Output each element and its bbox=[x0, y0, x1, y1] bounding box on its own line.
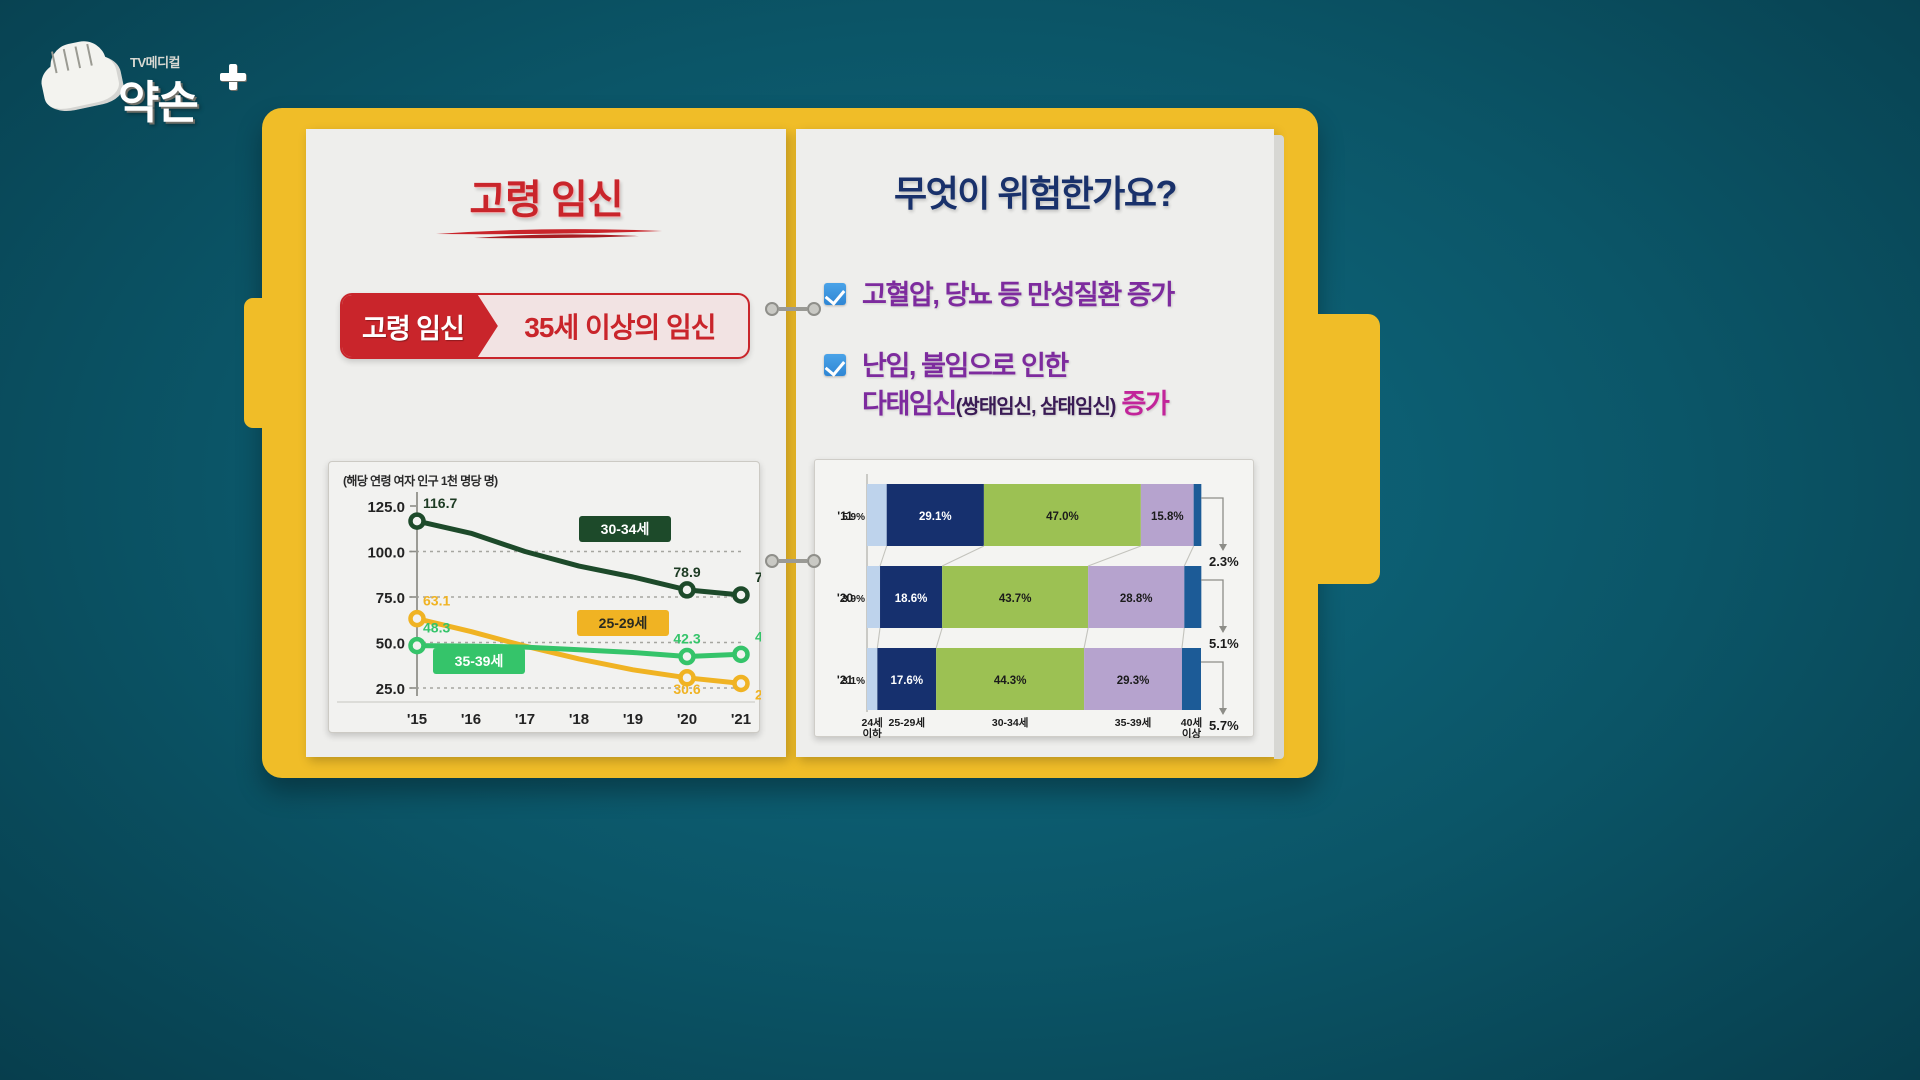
svg-text:'18: '18 bbox=[569, 711, 589, 728]
svg-text:'15: '15 bbox=[407, 711, 427, 728]
svg-text:'20: '20 bbox=[837, 591, 854, 605]
svg-text:18.6%: 18.6% bbox=[895, 593, 928, 605]
svg-text:43.5: 43.5 bbox=[755, 628, 761, 644]
svg-text:이상: 이상 bbox=[1182, 727, 1202, 738]
bullet-line-2-main: 다태임신 bbox=[862, 389, 956, 419]
svg-text:25.0: 25.0 bbox=[376, 681, 405, 698]
list-item: 난임, 불임으로 인한 다태임신(쌍태임신, 삼태임신) 증가 bbox=[824, 348, 1254, 423]
connector-bar bbox=[779, 559, 807, 563]
svg-text:5.1%: 5.1% bbox=[1209, 636, 1239, 651]
bullet-line-1: 난임, 불임으로 인한 bbox=[862, 351, 1068, 381]
svg-text:30-34세: 30-34세 bbox=[992, 716, 1029, 729]
svg-text:'20: '20 bbox=[677, 711, 697, 728]
svg-text:27.5: 27.5 bbox=[755, 686, 761, 702]
connector-dot-left bbox=[765, 302, 779, 316]
connector-dot-right bbox=[807, 302, 821, 316]
left-page-title: 고령 임신 bbox=[306, 167, 786, 225]
left-page: 고령 임신 고령 임신 35세 이상의 임신 (해당 연령 여자 인구 1천 명… bbox=[306, 129, 786, 757]
logo-word: 약손 bbox=[118, 66, 197, 131]
svg-text:48.3: 48.3 bbox=[423, 620, 450, 636]
svg-text:29.3%: 29.3% bbox=[1117, 675, 1150, 687]
title-underline bbox=[434, 225, 664, 239]
svg-text:30.6: 30.6 bbox=[673, 681, 700, 697]
line-chart: 125.0100.075.050.025.0'15'16'17'18'19'20… bbox=[329, 462, 761, 734]
svg-text:50.0: 50.0 bbox=[376, 636, 405, 653]
bullet-text: 고혈압, 당뇨 등 만성질환 증가 bbox=[862, 277, 1174, 314]
svg-text:25-29세: 25-29세 bbox=[888, 716, 925, 729]
line-chart-card: (해당 연령 여자 인구 1천 명당 명) 125.0100.075.050.0… bbox=[328, 461, 760, 733]
svg-text:29.1%: 29.1% bbox=[919, 511, 952, 523]
svg-text:35-39세: 35-39세 bbox=[455, 653, 504, 669]
folder-tab-left bbox=[244, 298, 268, 428]
svg-text:'11: '11 bbox=[837, 509, 853, 523]
stacked-bar-chart: 5.9%29.1%47.0%15.8%'112.3%3.9%18.6%43.7%… bbox=[815, 460, 1255, 738]
svg-text:'17: '17 bbox=[515, 711, 535, 728]
svg-text:43.7%: 43.7% bbox=[999, 593, 1032, 605]
svg-text:2.3%: 2.3% bbox=[1209, 554, 1239, 569]
badge-tag-label: 고령 임신 bbox=[342, 295, 498, 357]
svg-text:25-29세: 25-29세 bbox=[599, 615, 648, 631]
svg-text:35-39세: 35-39세 bbox=[1115, 716, 1152, 729]
definition-badge: 고령 임신 35세 이상의 임신 bbox=[340, 293, 750, 359]
channel-logo: TV메디컬 약손 bbox=[38, 30, 248, 116]
check-box-icon bbox=[824, 283, 846, 305]
list-item: 고혈압, 당뇨 등 만성질환 증가 bbox=[824, 277, 1254, 314]
hand-icon bbox=[37, 48, 126, 115]
connector-dot-right bbox=[807, 554, 821, 568]
svg-text:63.1: 63.1 bbox=[423, 593, 450, 609]
svg-text:47.0%: 47.0% bbox=[1046, 511, 1079, 523]
connector-dot-left bbox=[765, 554, 779, 568]
svg-text:44.3%: 44.3% bbox=[994, 675, 1027, 687]
connector-bar bbox=[779, 307, 807, 311]
svg-text:28.8%: 28.8% bbox=[1120, 593, 1153, 605]
svg-text:'16: '16 bbox=[461, 711, 481, 728]
svg-text:125.0: 125.0 bbox=[367, 499, 405, 516]
check-box-icon bbox=[824, 354, 846, 376]
svg-text:42.3: 42.3 bbox=[673, 631, 700, 647]
risk-bullet-list: 고혈압, 당뇨 등 만성질환 증가 난임, 불임으로 인한 다태임신(쌍태임신,… bbox=[824, 277, 1254, 457]
folder-container: 고령 임신 고령 임신 35세 이상의 임신 (해당 연령 여자 인구 1천 명… bbox=[262, 108, 1318, 778]
badge-definition: 35세 이상의 임신 bbox=[498, 306, 748, 346]
svg-text:100.0: 100.0 bbox=[367, 545, 405, 562]
right-page: 무엇이 위험한가요? 고혈압, 당뇨 등 만성질환 증가 난임, 불임으로 인한… bbox=[796, 129, 1274, 757]
svg-text:116.7: 116.7 bbox=[423, 495, 457, 511]
plus-icon bbox=[220, 64, 246, 90]
bullet-line-2-accent: 증가 bbox=[1122, 389, 1169, 419]
bar-chart-card: 5.9%29.1%47.0%15.8%'112.3%3.9%18.6%43.7%… bbox=[814, 459, 1254, 737]
svg-text:'19: '19 bbox=[623, 711, 643, 728]
svg-text:75.0: 75.0 bbox=[376, 590, 405, 607]
svg-text:이하: 이하 bbox=[863, 727, 883, 738]
connector-bottom bbox=[765, 554, 821, 568]
svg-text:78.9: 78.9 bbox=[673, 564, 700, 580]
svg-text:76.1: 76.1 bbox=[755, 569, 761, 585]
connector-top bbox=[765, 302, 821, 316]
svg-text:5.7%: 5.7% bbox=[1209, 718, 1239, 733]
svg-text:30-34세: 30-34세 bbox=[601, 521, 650, 537]
svg-text:15.8%: 15.8% bbox=[1151, 511, 1184, 523]
svg-text:'21: '21 bbox=[731, 711, 751, 728]
right-page-title: 무엇이 위험한가요? bbox=[796, 165, 1274, 217]
bullet-text: 난임, 불임으로 인한 다태임신(쌍태임신, 삼태임신) 증가 bbox=[862, 348, 1168, 423]
svg-text:17.6%: 17.6% bbox=[890, 675, 923, 687]
svg-text:'21: '21 bbox=[837, 673, 854, 687]
folder-tab-right bbox=[1310, 314, 1380, 584]
bullet-line-2-paren: (쌍태임신, 삼태임신) bbox=[956, 396, 1116, 418]
